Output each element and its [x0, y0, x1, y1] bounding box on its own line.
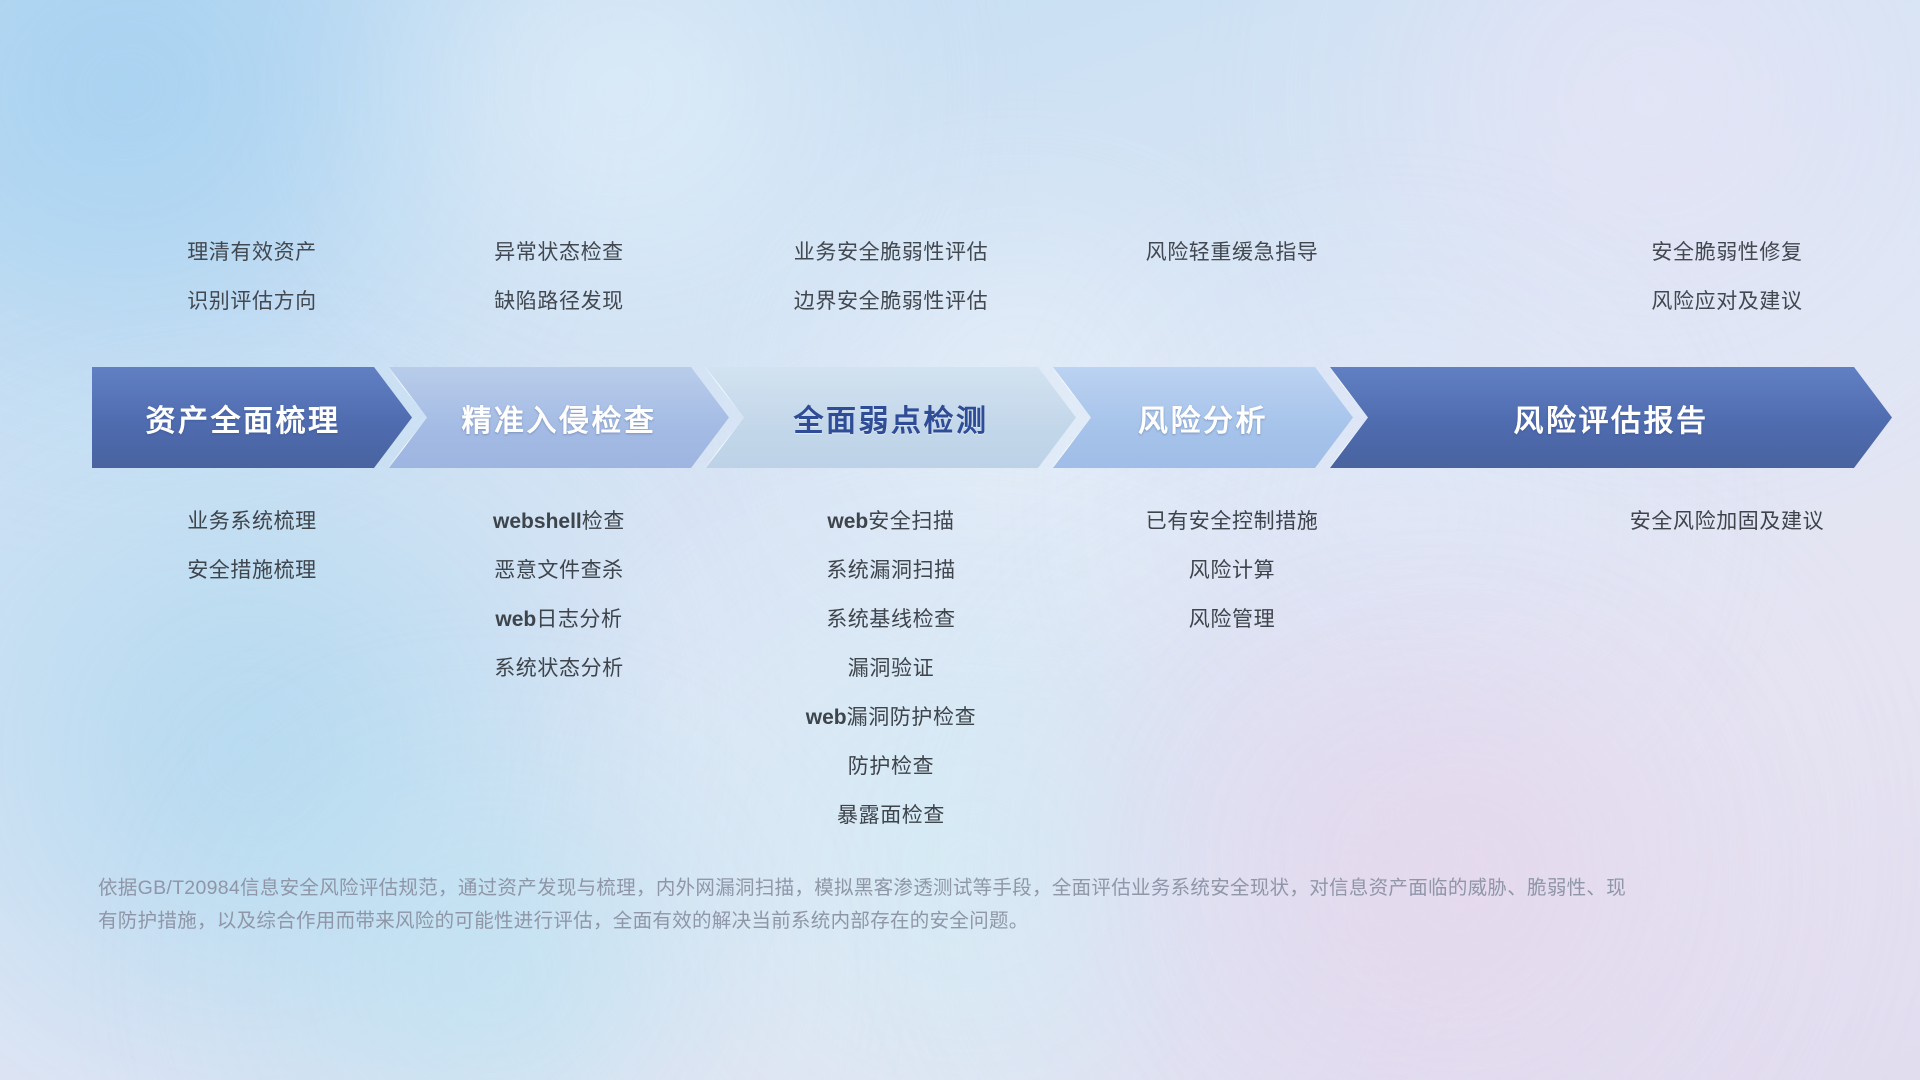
bottom-label-group: 已有安全控制措施风险计算风险管理: [1092, 497, 1372, 644]
bottom-label-cn: 漏洞防护检查: [847, 706, 977, 729]
bottom-label-cn: 系统状态分析: [494, 657, 624, 680]
bottom-label-cn: 系统基线检查: [826, 608, 956, 631]
top-label-item: 理清有效资产: [92, 228, 412, 277]
bottom-label-item: 防护检查: [706, 742, 1076, 791]
bottom-label-item: 业务系统梳理: [92, 497, 412, 546]
top-label-group: 业务安全脆弱性评估边界安全脆弱性评估: [706, 228, 1076, 326]
bottom-label-group: webshell检查恶意文件查杀web日志分析系统状态分析: [389, 497, 729, 693]
bottom-label-item: 安全风险加固及建议: [1562, 497, 1892, 546]
top-label-item: 风险轻重缓急指导: [1092, 228, 1372, 277]
bottom-label-cn: 防护检查: [848, 755, 934, 778]
process-stage-arrow[interactable]: 资产全面梳理: [92, 367, 412, 468]
bottom-label-item: 安全措施梳理: [92, 546, 412, 595]
top-label-group: 理清有效资产识别评估方向: [92, 228, 412, 326]
process-stage-label: 风险分析: [1138, 396, 1268, 440]
bottom-label-cn: 安全扫描: [868, 510, 954, 533]
top-label-item: 缺陷路径发现: [389, 277, 729, 326]
bottom-label-item: 风险管理: [1092, 595, 1372, 644]
bottom-label-en: web: [827, 510, 868, 533]
bottom-label-en: webshell: [493, 510, 582, 533]
bottom-label-item: 暴露面检查: [706, 791, 1076, 840]
bottom-label-cn: 日志分析: [536, 608, 622, 631]
process-stage-label: 风险评估报告: [1514, 396, 1709, 440]
process-stage-label: 精准入侵检查: [462, 396, 657, 440]
bottom-label-cn: 恶意文件查杀: [494, 559, 624, 582]
process-stage-arrow[interactable]: 风险评估报告: [1330, 367, 1892, 468]
bottom-label-item: web日志分析: [389, 595, 729, 644]
top-label-group: 风险轻重缓急指导: [1092, 228, 1372, 277]
bottom-label-item: 系统状态分析: [389, 644, 729, 693]
process-stage-label: 全面弱点检测: [794, 396, 989, 440]
bottom-label-cn: 检查: [582, 510, 625, 533]
bottom-label-group: 安全风险加固及建议: [1562, 497, 1892, 546]
top-label-item: 风险应对及建议: [1562, 277, 1892, 326]
top-label-item: 安全脆弱性修复: [1562, 228, 1892, 277]
process-stage-arrow[interactable]: 全面弱点检测: [706, 367, 1076, 468]
bottom-label-item: web漏洞防护检查: [706, 693, 1076, 742]
top-label-item: 异常状态检查: [389, 228, 729, 277]
top-label-group: 安全脆弱性修复风险应对及建议: [1562, 228, 1892, 326]
diagram-canvas: 理清有效资产识别评估方向异常状态检查缺陷路径发现业务安全脆弱性评估边界安全脆弱性…: [0, 0, 1920, 1080]
bottom-label-cn: 安全措施梳理: [187, 559, 317, 582]
bottom-label-cn: 系统漏洞扫描: [826, 559, 956, 582]
bottom-label-en: web: [806, 706, 847, 729]
bottom-label-item: 系统基线检查: [706, 595, 1076, 644]
bottom-label-item: web安全扫描: [706, 497, 1076, 546]
bottom-label-item: 风险计算: [1092, 546, 1372, 595]
process-stage-label: 资产全面梳理: [146, 396, 341, 440]
bottom-label-cn: 已有安全控制措施: [1146, 510, 1319, 533]
bottom-label-cn: 安全风险加固及建议: [1630, 510, 1824, 533]
top-label-item: 识别评估方向: [92, 277, 412, 326]
bottom-label-cn: 风险管理: [1189, 608, 1275, 631]
bottom-label-group: web安全扫描系统漏洞扫描系统基线检查漏洞验证web漏洞防护检查防护检查暴露面检…: [706, 497, 1076, 840]
footer-description: 依据GB/T20984信息安全风险评估规范，通过资产发现与梳理，内外网漏洞扫描，…: [98, 872, 1628, 938]
bottom-label-item: 系统漏洞扫描: [706, 546, 1076, 595]
top-label-item: 边界安全脆弱性评估: [706, 277, 1076, 326]
bottom-label-en: web: [495, 608, 536, 631]
bottom-label-cn: 业务系统梳理: [187, 510, 317, 533]
bottom-label-cn: 暴露面检查: [837, 804, 945, 827]
bottom-label-group: 业务系统梳理安全措施梳理: [92, 497, 412, 595]
bottom-label-cn: 漏洞验证: [848, 657, 934, 680]
bottom-label-cn: 风险计算: [1189, 559, 1275, 582]
bottom-label-item: 已有安全控制措施: [1092, 497, 1372, 546]
bottom-label-item: webshell检查: [389, 497, 729, 546]
process-stage-arrow[interactable]: 风险分析: [1053, 367, 1353, 468]
bottom-label-item: 漏洞验证: [706, 644, 1076, 693]
top-label-item: 业务安全脆弱性评估: [706, 228, 1076, 277]
top-label-group: 异常状态检查缺陷路径发现: [389, 228, 729, 326]
process-arrow-band: 资产全面梳理精准入侵检查全面弱点检测风险分析风险评估报告: [92, 367, 1892, 468]
process-stage-arrow[interactable]: 精准入侵检查: [389, 367, 729, 468]
bottom-label-item: 恶意文件查杀: [389, 546, 729, 595]
